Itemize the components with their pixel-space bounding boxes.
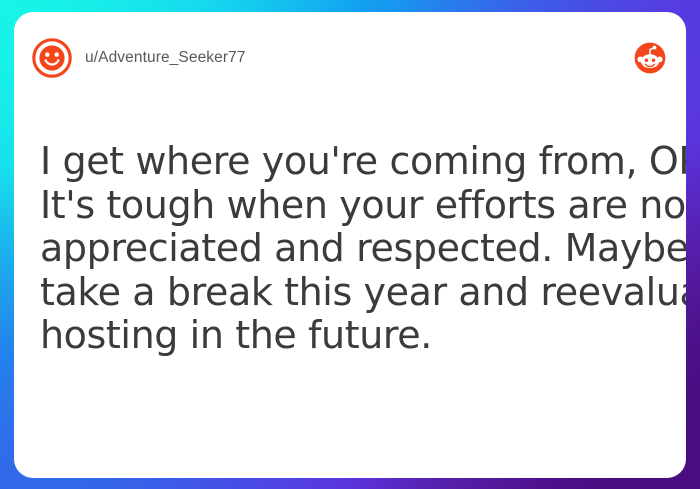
comment-card: u/Adventure_Seeker77 I get where xyxy=(14,12,686,478)
comment-text: I get where you're coming from, OP. It's… xyxy=(40,140,660,358)
comment-line: take a break this year and reevaluate xyxy=(40,271,660,315)
gradient-background: u/Adventure_Seeker77 I get where xyxy=(0,0,700,489)
comment-line: appreciated and respected. Maybe xyxy=(40,227,660,271)
comment-line: hosting in the future. xyxy=(40,314,660,358)
username-label[interactable]: u/Adventure_Seeker77 xyxy=(85,49,246,67)
comment-line: I get where you're coming from, OP. xyxy=(40,140,660,184)
comment-line: It's tough when your efforts are not xyxy=(40,184,660,228)
smiley-face-avatar-icon[interactable] xyxy=(32,38,72,78)
reddit-snoo-icon[interactable] xyxy=(634,42,666,74)
card-header: u/Adventure_Seeker77 xyxy=(14,12,686,104)
